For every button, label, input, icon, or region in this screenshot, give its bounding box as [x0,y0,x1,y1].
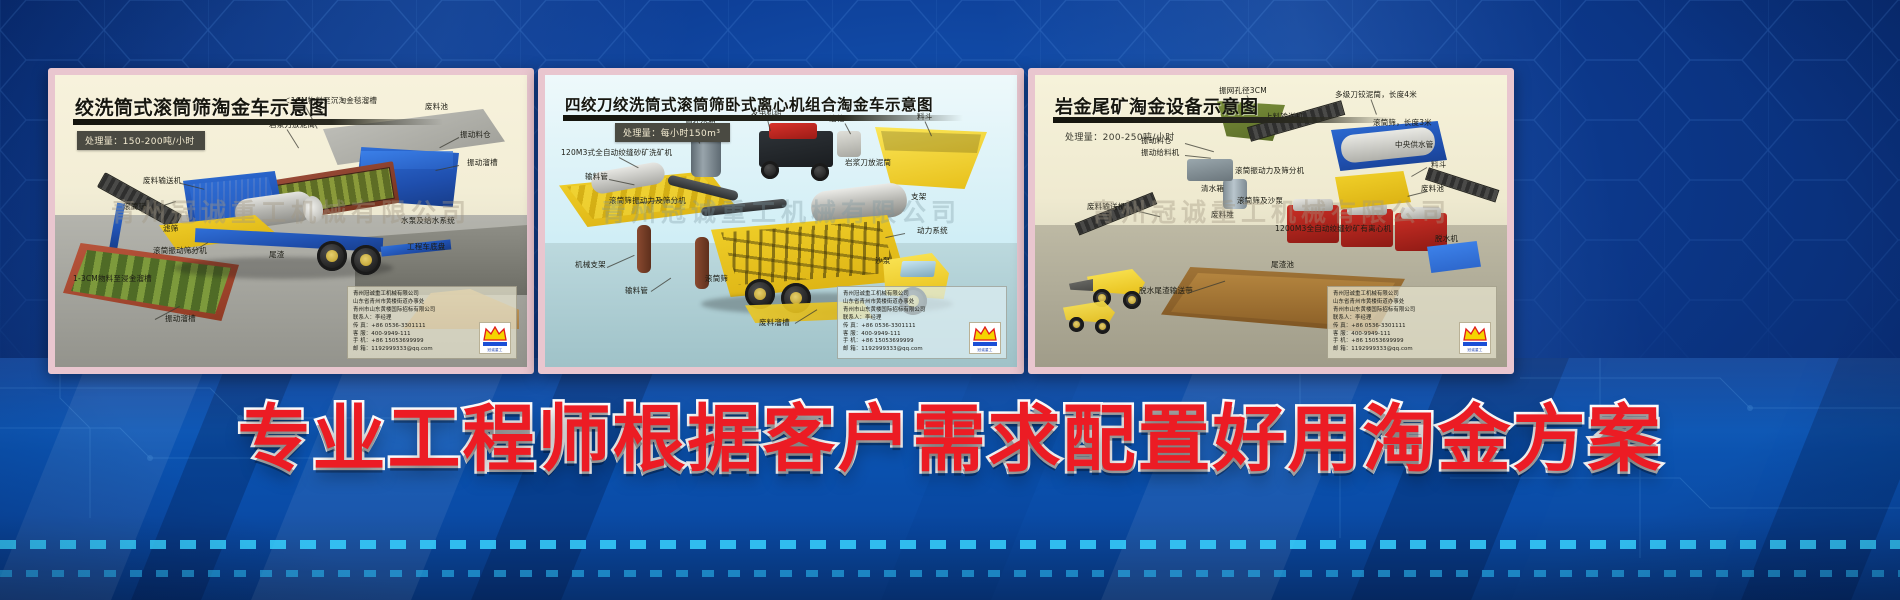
headline-container: 专业工程师根据客户需求配置好用淘金方案 [0,0,1900,600]
banner-headline: 专业工程师根据客户需求配置好用淘金方案 [0,380,1900,486]
